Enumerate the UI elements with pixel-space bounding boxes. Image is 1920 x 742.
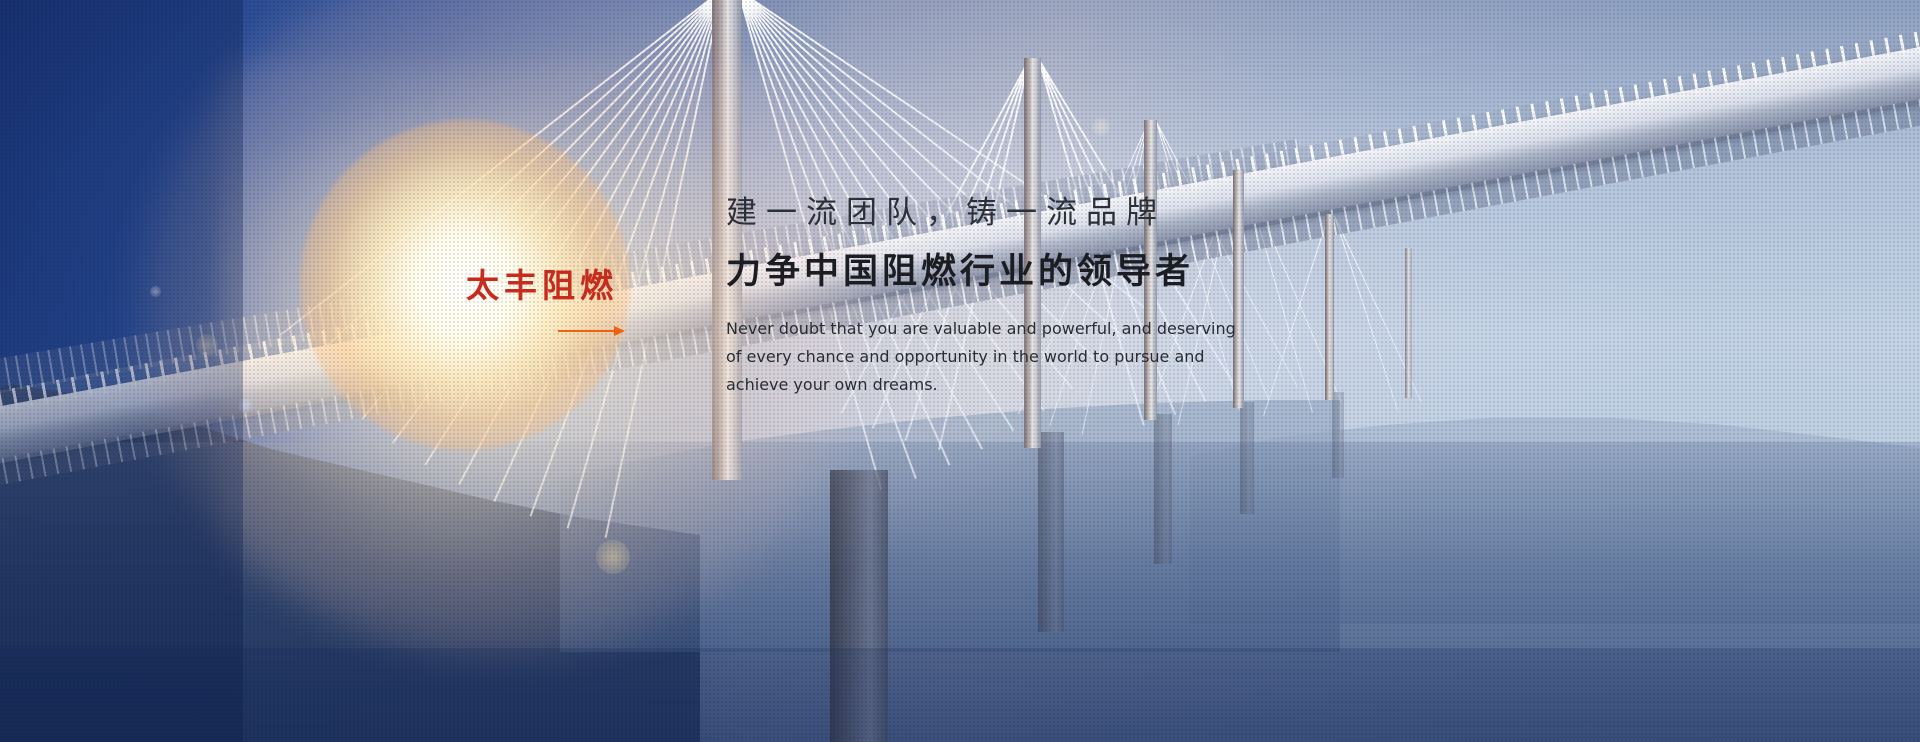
- banner-text-block: 建一流团队，铸一流品牌 力争中国阻燃行业的领导者 Never doubt tha…: [726, 194, 1286, 399]
- arrow-shaft: [558, 330, 618, 332]
- arrow-right-icon: [558, 326, 625, 336]
- banner-content: 太丰阻燃 建一流团队，铸一流品牌 力争中国阻燃行业的领导者 Never doub…: [0, 0, 1920, 742]
- headline-primary: 建一流团队，铸一流品牌: [726, 194, 1286, 233]
- subcopy-line-1: Never doubt that you are valuable and po…: [726, 315, 1188, 343]
- hero-banner: 太丰阻燃 建一流团队，铸一流品牌 力争中国阻燃行业的领导者 Never doub…: [0, 0, 1920, 742]
- subcopy-line-2: of every chance and opportunity in the w…: [726, 343, 1188, 371]
- banner-subcopy: Never doubt that you are valuable and po…: [726, 315, 1188, 399]
- arrow-head: [614, 326, 625, 336]
- brand-logo-text: 太丰阻燃: [466, 268, 636, 305]
- subcopy-line-3: achieve your own dreams.: [726, 371, 1188, 399]
- headline-secondary: 力争中国阻燃行业的领导者: [726, 251, 1286, 293]
- brand-logo[interactable]: 太丰阻燃: [466, 268, 636, 336]
